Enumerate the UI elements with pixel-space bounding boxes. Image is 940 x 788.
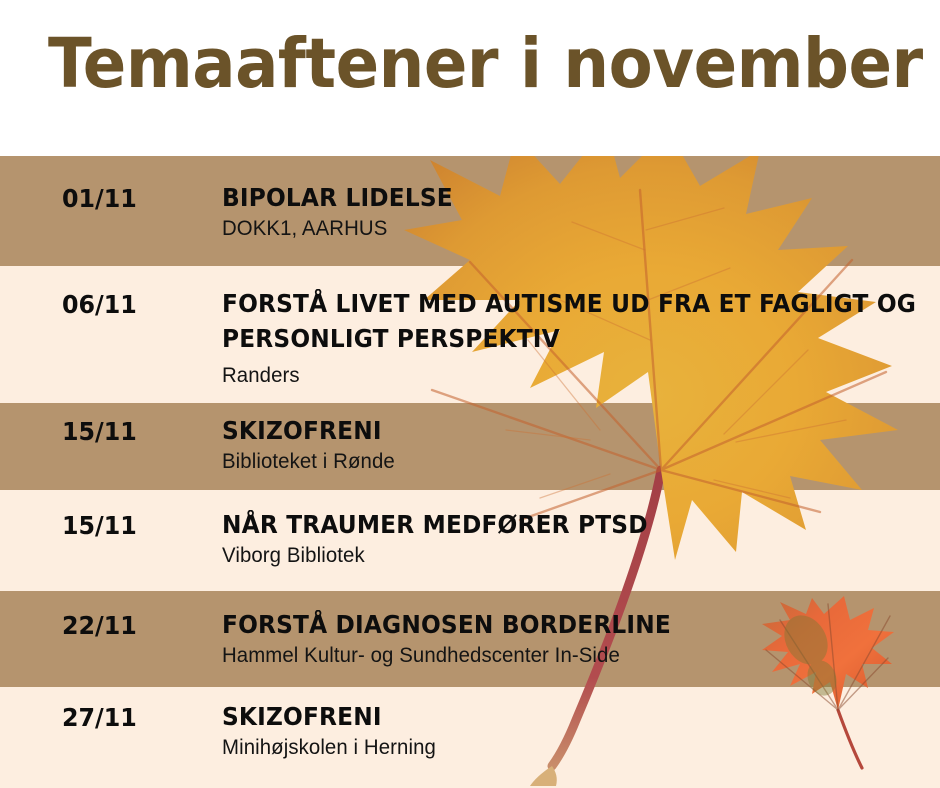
event-venue: Hammel Kultur- og Sundhedscenter In-Side	[222, 642, 909, 670]
list-item: 15/11 SKIZOFRENI Biblioteket i Rønde	[0, 403, 940, 490]
event-body: SKIZOFRENI Minihøjskolen i Herning	[222, 699, 930, 762]
event-body: BIPOLAR LIDELSE DOKK1, AARHUS	[222, 180, 930, 243]
event-date: 15/11	[62, 417, 137, 446]
title-bar: Temaaftener i november	[0, 0, 940, 156]
event-venue: Biblioteket i Rønde	[222, 448, 909, 476]
list-item: 06/11 FORSTÅ LIVET MED AUTISME UD FRA ET…	[0, 266, 940, 403]
event-body: FORSTÅ DIAGNOSEN BORDERLINE Hammel Kultu…	[222, 607, 930, 670]
event-heading: SKIZOFRENI	[222, 413, 880, 448]
event-body: NÅR TRAUMER MEDFØRER PTSD Viborg Bibliot…	[222, 507, 930, 570]
event-venue: Minihøjskolen i Herning	[222, 734, 909, 762]
event-venue: Randers	[222, 362, 909, 390]
event-body: FORSTÅ LIVET MED AUTISME UD FRA ET FAGLI…	[222, 286, 930, 390]
event-date: 06/11	[62, 290, 137, 319]
event-venue: DOKK1, AARHUS	[222, 215, 909, 243]
list-item: 01/11 BIPOLAR LIDELSE DOKK1, AARHUS	[0, 156, 940, 266]
event-heading: NÅR TRAUMER MEDFØRER PTSD	[222, 507, 880, 542]
page-title: Temaaftener i november	[48, 24, 848, 104]
event-date: 27/11	[62, 703, 137, 732]
event-date: 22/11	[62, 611, 137, 640]
event-heading: BIPOLAR LIDELSE	[222, 180, 880, 215]
event-body: SKIZOFRENI Biblioteket i Rønde	[222, 413, 930, 476]
event-date: 01/11	[62, 184, 137, 213]
event-heading: SKIZOFRENI	[222, 699, 880, 734]
poster-canvas: Temaaftener i november 01/11 BIPOLAR LID…	[0, 0, 940, 788]
event-date: 15/11	[62, 511, 137, 540]
list-item: 27/11 SKIZOFRENI Minihøjskolen i Herning	[0, 687, 940, 788]
event-venue: Viborg Bibliotek	[222, 542, 909, 570]
event-heading: FORSTÅ LIVET MED AUTISME UD FRA ET FAGLI…	[222, 286, 940, 356]
event-heading: FORSTÅ DIAGNOSEN BORDERLINE	[222, 607, 880, 642]
list-item: 15/11 NÅR TRAUMER MEDFØRER PTSD Viborg B…	[0, 490, 940, 591]
list-item: 22/11 FORSTÅ DIAGNOSEN BORDERLINE Hammel…	[0, 591, 940, 687]
